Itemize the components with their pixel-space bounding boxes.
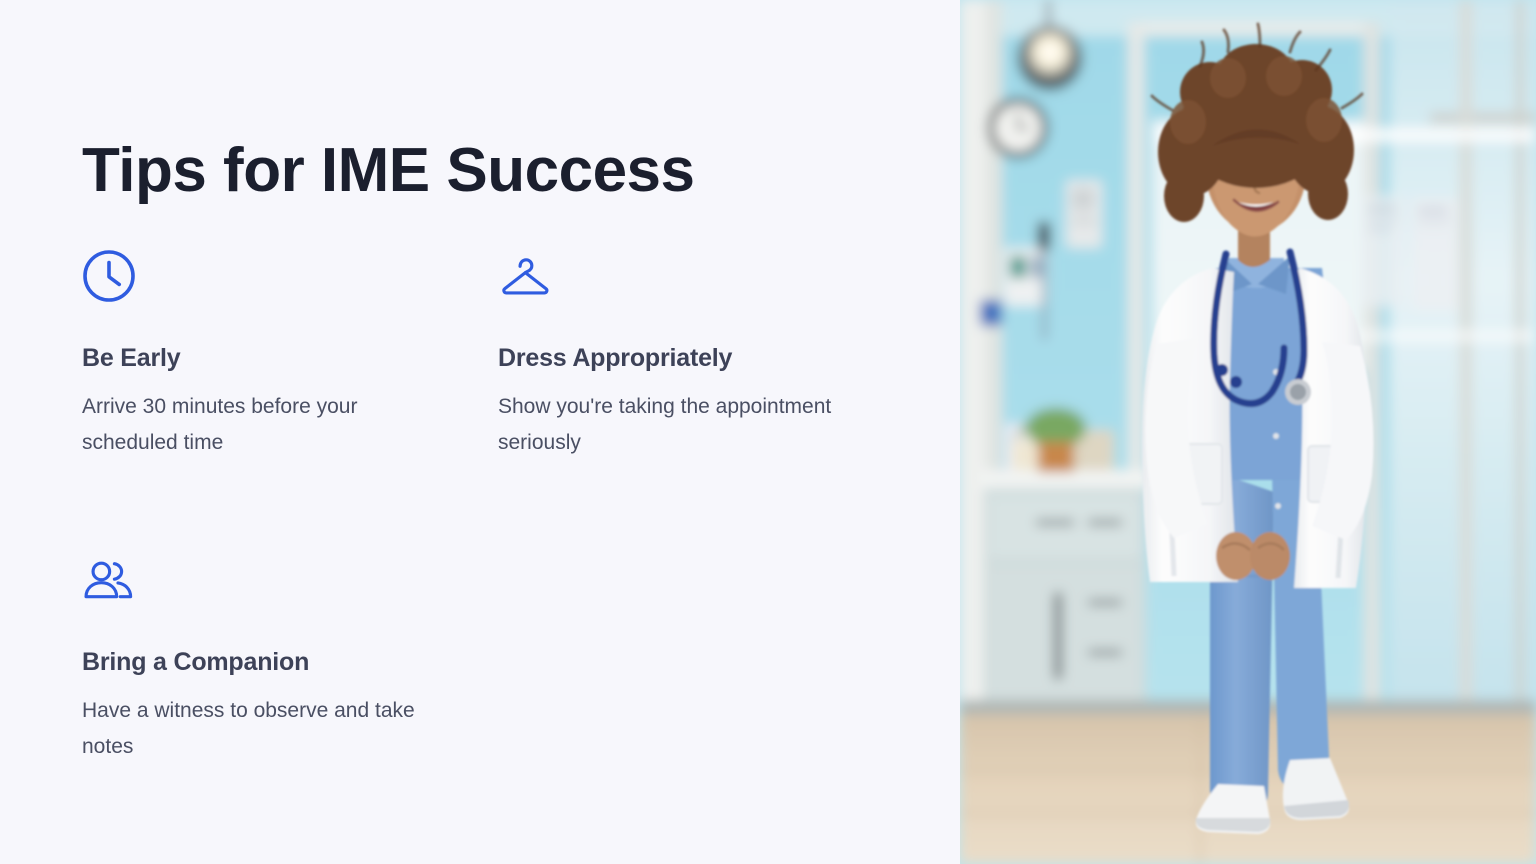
tip-description: Have a witness to observe and take notes bbox=[82, 693, 432, 765]
tip-title: Be Early bbox=[82, 344, 482, 373]
slide-root: Tips for IME Success Be Early Arrive 30 … bbox=[0, 0, 1536, 864]
content-panel: Tips for IME Success Be Early Arrive 30 … bbox=[0, 0, 960, 864]
tip-card-dress-appropriately: Dress Appropriately Show you're taking t… bbox=[498, 249, 898, 461]
people-icon bbox=[82, 553, 136, 607]
tip-title: Dress Appropriately bbox=[498, 344, 898, 373]
doctor-photo bbox=[960, 0, 1536, 864]
clock-icon bbox=[82, 249, 136, 303]
tip-description: Arrive 30 minutes before your scheduled … bbox=[82, 389, 432, 461]
page-title: Tips for IME Success bbox=[82, 138, 695, 203]
tip-description: Show you're taking the appointment serio… bbox=[498, 389, 848, 461]
tips-grid: Be Early Arrive 30 minutes before your s… bbox=[82, 249, 912, 765]
tip-title: Bring a Companion bbox=[82, 648, 482, 677]
tip-card-bring-a-companion: Bring a Companion Have a witness to obse… bbox=[82, 553, 482, 765]
tip-card-be-early: Be Early Arrive 30 minutes before your s… bbox=[82, 249, 482, 461]
clothes-hanger-icon bbox=[498, 249, 552, 303]
